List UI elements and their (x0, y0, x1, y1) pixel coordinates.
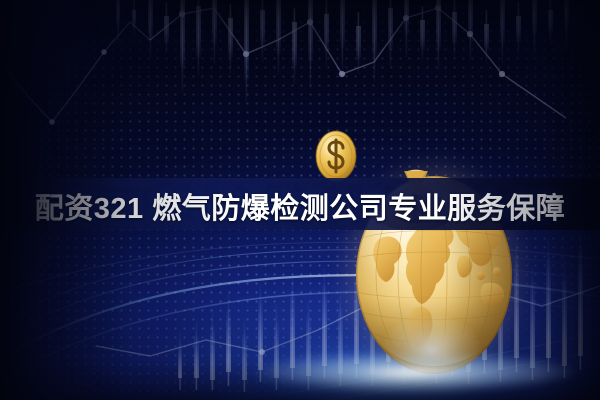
globe-contact-glow (250, 352, 580, 392)
banner-canvas: 配资321 燃气防爆检测公司专业服务保障 (0, 0, 600, 400)
vignette-overlay (0, 0, 600, 400)
